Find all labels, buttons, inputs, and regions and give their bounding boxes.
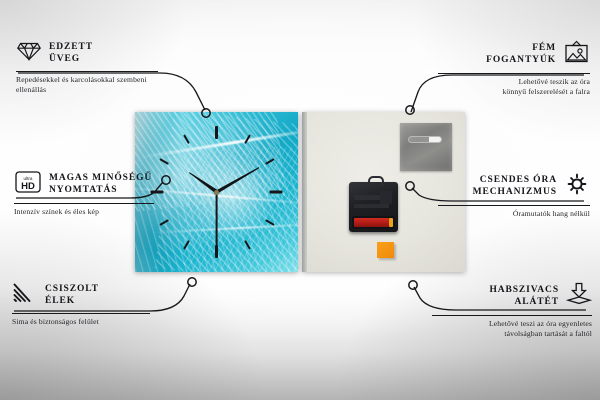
battery-terminal <box>389 218 393 226</box>
diamond-icon <box>16 40 42 67</box>
metal-hanger-plate <box>400 123 452 171</box>
feature-metal-handles: FÉM FOGANTYÚK Lehetővé teszik az óra kön… <box>438 40 590 97</box>
feature-header: ultra HD MAGAS MINŐSÉGŰ NYOMTATÁS <box>14 170 169 199</box>
feature-tempered-glass: EDZETT ÜVEG Repedésekkel és karcolásokka… <box>16 40 171 95</box>
clock-hour-hand <box>188 171 218 194</box>
feature-description-line2: könnyű felszerelését a falra <box>503 87 590 96</box>
feature-silent-mechanism: CSENDES ÓRA MECHANIZMUS Óramutatók hang … <box>438 172 590 219</box>
feature-description: Lehetővé teszi az óra egyenletes távolsá… <box>432 319 592 339</box>
clock-tick-4 <box>264 219 274 226</box>
gear-icon <box>564 172 590 201</box>
feature-title-line2: NYOMTATÁS <box>49 185 117 195</box>
clock-tick-2 <box>264 158 274 165</box>
feature-title-line1: CSENDES ÓRA <box>480 175 557 185</box>
clock-second-hand <box>216 192 218 246</box>
feature-title: CSISZOLT ÉLEK <box>45 284 99 307</box>
polished-edges-icon <box>12 282 38 309</box>
feature-title-line2: ÉLEK <box>45 296 75 306</box>
feature-description: Sima és biztonságos felület <box>12 317 162 327</box>
clock-tick-5 <box>244 240 251 250</box>
feature-header: CSENDES ÓRA MECHANIZMUS <box>438 172 590 201</box>
feature-divider <box>14 203 154 204</box>
picture-hanger-icon <box>563 40 590 69</box>
feature-title: CSENDES ÓRA MECHANIZMUS <box>473 175 557 198</box>
feature-title-line1: CSISZOLT <box>45 284 99 294</box>
feature-title-line1: HABSZIVACS <box>489 285 559 295</box>
feature-title: HABSZIVACS ALÁTÉT <box>489 285 559 308</box>
clock-mechanism-module <box>349 182 398 232</box>
feature-header: HABSZIVACS ALÁTÉT <box>432 282 592 311</box>
feature-title-line2: MECHANIZMUS <box>473 187 557 197</box>
clock-tick-8 <box>159 219 169 226</box>
foam-pad-arrow-icon <box>566 282 592 311</box>
feature-divider <box>438 73 590 74</box>
feature-header: FÉM FOGANTYÚK <box>438 40 590 69</box>
feature-title: EDZETT ÜVEG <box>49 42 93 65</box>
feature-title-line2: ÜVEG <box>49 54 80 64</box>
feature-title-line1: MAGAS MINŐSÉGŰ <box>49 173 152 183</box>
feature-header: CSISZOLT ÉLEK <box>12 282 167 309</box>
feature-divider <box>438 205 590 206</box>
svg-text:HD: HD <box>21 181 35 192</box>
feature-description-line1: Lehetővé teszi az óra egyenletes <box>489 319 592 328</box>
battery <box>354 218 389 227</box>
feature-description: Óramutatók hang nélkül <box>438 209 590 219</box>
clock-tick-1 <box>244 134 251 144</box>
hanger-slot <box>408 136 442 143</box>
feature-polished-edges: CSISZOLT ÉLEK Sima és biztonságos felüle… <box>12 282 167 327</box>
feature-description: Intenzív színek és éles kép <box>14 207 164 217</box>
product-image <box>135 112 465 272</box>
feature-foam-pad: HABSZIVACS ALÁTÉT Lehetővé teszi az óra … <box>432 282 592 339</box>
mechanism-hanging-loop <box>368 176 384 186</box>
mechanism-detail-2 <box>380 191 393 204</box>
clock-tick-12 <box>215 126 218 139</box>
clock-minute-hand <box>216 166 260 194</box>
clock-tick-10 <box>159 158 169 165</box>
feature-divider <box>16 71 158 72</box>
feature-title-line1: FÉM <box>532 43 556 53</box>
feature-description: Lehetővé teszik az óra könnyű felszerelé… <box>438 77 590 97</box>
clock-tick-7 <box>183 240 190 250</box>
feature-title: FÉM FOGANTYÚK <box>486 43 556 66</box>
feature-title-line2: FOGANTYÚK <box>486 55 556 65</box>
feature-title-line2: ALÁTÉT <box>515 297 559 307</box>
ultra-hd-icon: ultra HD <box>14 170 42 199</box>
feature-title-line1: EDZETT <box>49 42 93 52</box>
feature-header: EDZETT ÜVEG <box>16 40 171 67</box>
clock-tick-11 <box>183 134 190 144</box>
feature-hd-print: ultra HD MAGAS MINŐSÉGŰ NYOMTATÁS Intenz… <box>14 170 169 217</box>
foam-spacer-pad <box>377 242 394 258</box>
battery-compartment <box>352 216 395 229</box>
feature-description-line2: távolságban tartását a faltól <box>504 329 592 338</box>
clock-tick-6 <box>215 245 218 258</box>
feature-description: Repedésekkel és karcolásokkal szembeni e… <box>16 75 166 95</box>
mechanism-detail-3 <box>354 204 389 207</box>
mechanism-detail-1 <box>354 195 379 199</box>
feature-divider <box>432 315 592 316</box>
clock-tick-3 <box>270 191 283 194</box>
clock-center-cap <box>214 190 219 195</box>
clock-side-edge <box>302 112 307 272</box>
feature-description-line1: Lehetővé teszik az óra <box>519 77 590 86</box>
feature-divider <box>12 313 150 314</box>
feature-title: MAGAS MINŐSÉGŰ NYOMTATÁS <box>49 173 152 196</box>
